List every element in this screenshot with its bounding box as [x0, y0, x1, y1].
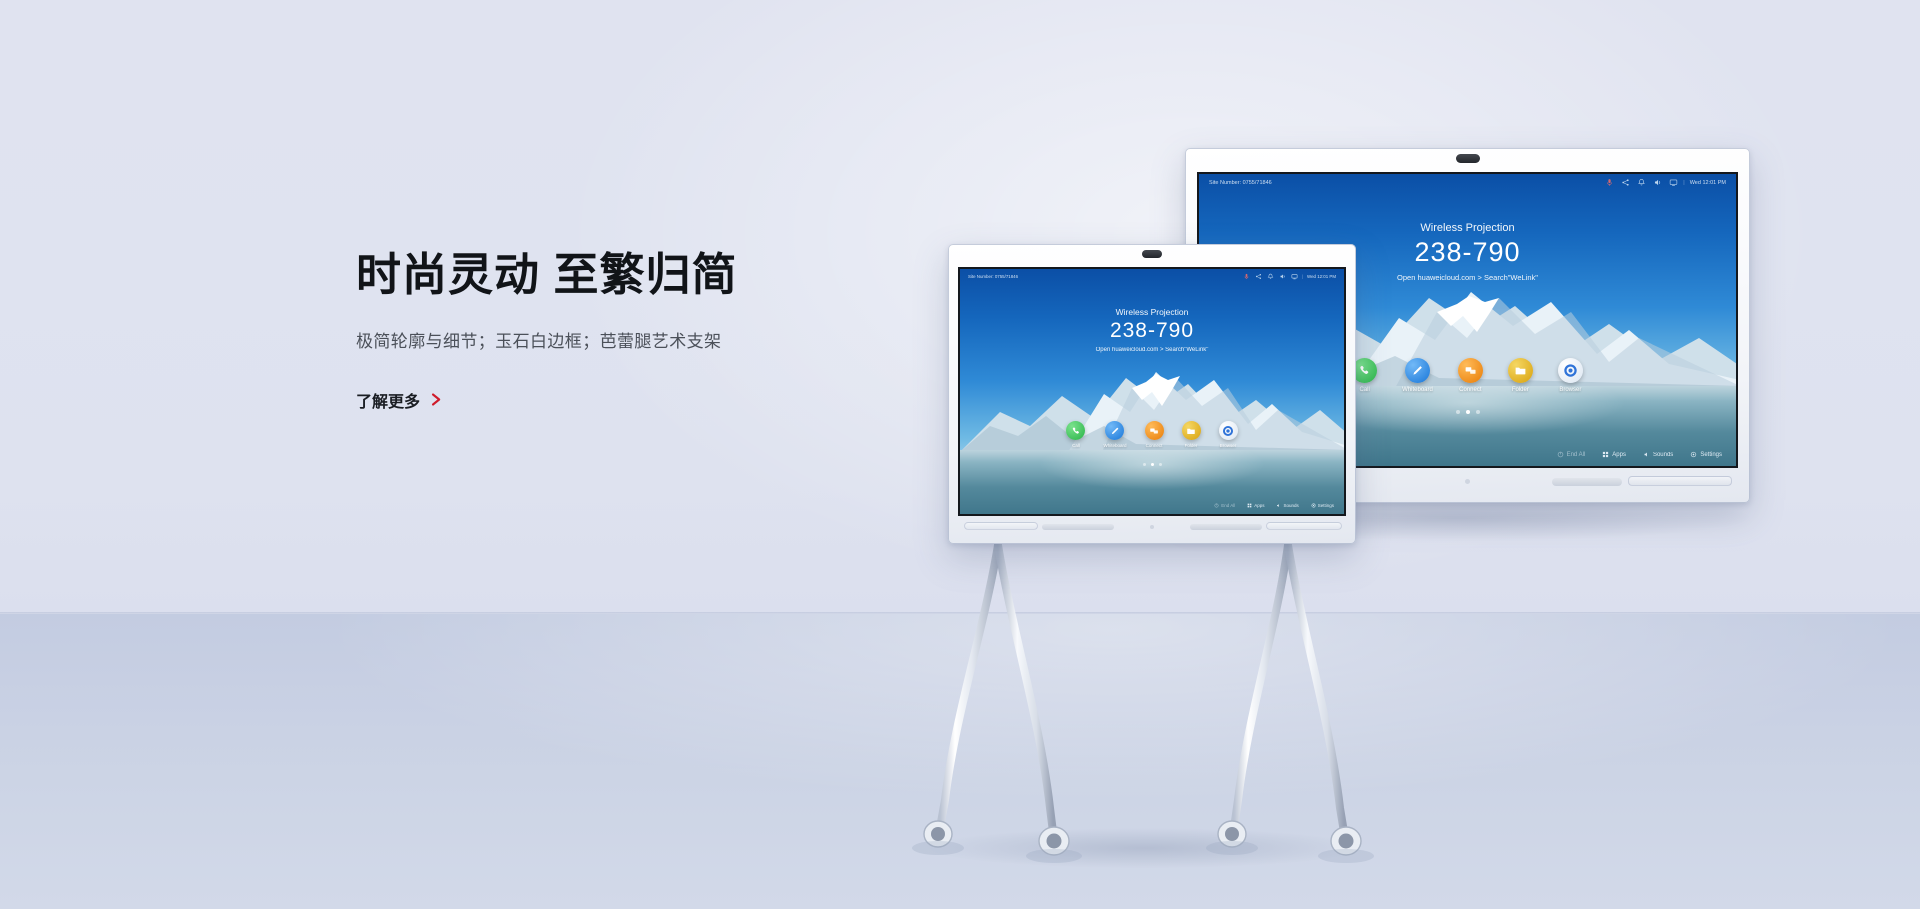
taskbar-settings[interactable]: Settings	[1690, 451, 1722, 458]
gear-icon	[1311, 503, 1316, 508]
taskbar-end-all-label: End All	[1221, 503, 1235, 508]
taskbar-apps-label: Apps	[1254, 503, 1264, 508]
taskbar-end-all-label: End All	[1567, 452, 1586, 458]
front-projection-code: 238-790	[960, 319, 1344, 343]
back-app-connect[interactable]: Connect	[1458, 358, 1483, 393]
back-camera-icon	[1456, 154, 1480, 163]
front-ir-sensor-icon	[1150, 525, 1154, 529]
taskbar-apps[interactable]: Apps	[1602, 451, 1626, 458]
back-status-icons: | Wed 12:01 PM	[1605, 178, 1726, 187]
bell-icon[interactable]	[1637, 178, 1646, 187]
front-app-whiteboard-label: Whiteboard	[1103, 443, 1126, 448]
power-icon	[1214, 503, 1219, 508]
floor-reflection	[0, 614, 1920, 909]
mic-icon[interactable]	[1605, 178, 1614, 187]
network-icon[interactable]	[1669, 178, 1678, 187]
taskbar-apps-label: Apps	[1612, 452, 1626, 458]
pen-icon[interactable]	[1405, 358, 1430, 383]
taskbar-apps[interactable]: Apps	[1247, 503, 1264, 508]
folder-icon[interactable]	[1508, 358, 1533, 383]
taskbar-sounds-label: Sounds	[1283, 503, 1298, 508]
grid-icon	[1247, 503, 1252, 508]
back-app-whiteboard-label: Whiteboard	[1402, 387, 1433, 393]
back-app-folder[interactable]: Folder	[1508, 358, 1533, 393]
back-ir-sensor-icon	[1465, 479, 1470, 484]
front-app-connect-label: Connect	[1146, 443, 1163, 448]
back-speaker-grille-right	[1552, 478, 1622, 486]
folder-icon[interactable]	[1182, 421, 1201, 440]
share-icon[interactable]	[1255, 273, 1262, 280]
back-page-dot[interactable]	[1476, 410, 1480, 414]
front-app-connect[interactable]: Connect	[1145, 421, 1164, 448]
phone-icon[interactable]	[1066, 421, 1085, 440]
front-speaker-grille-left-2	[1042, 524, 1114, 530]
taskbar-settings-label: Settings	[1318, 503, 1334, 508]
taskbar-end-all[interactable]: End All	[1214, 503, 1235, 508]
front-app-dock: Call Whiteboard	[960, 421, 1344, 448]
front-speaker-grille-left	[964, 522, 1038, 530]
back-projection-title: Wireless Projection	[1199, 222, 1736, 234]
sound-icon	[1276, 503, 1281, 508]
front-projection-block: Wireless Projection 238-790 Open huaweic…	[960, 307, 1344, 353]
front-app-folder[interactable]: Folder	[1182, 421, 1201, 448]
taskbar-settings-label: Settings	[1700, 452, 1722, 458]
front-status-icons: | Wed 12:01 PM	[1243, 273, 1336, 280]
taskbar-end-all[interactable]: End All	[1557, 451, 1586, 458]
front-app-call-label: Call	[1072, 443, 1080, 448]
front-projection-hint: Open huaweicloud.com > Search"WeLink"	[960, 347, 1344, 353]
back-app-connect-label: Connect	[1459, 387, 1481, 393]
front-app-call[interactable]: Call	[1066, 421, 1085, 448]
share-icon[interactable]	[1621, 178, 1630, 187]
back-app-browser-label: Browser	[1559, 387, 1581, 393]
grid-icon	[1602, 451, 1609, 458]
volume-icon[interactable]	[1279, 273, 1286, 280]
front-page-dot[interactable]	[1159, 463, 1162, 466]
power-icon	[1557, 451, 1564, 458]
front-status-bar: Site Number: 0755/71846	[960, 269, 1344, 283]
pen-icon[interactable]	[1105, 421, 1124, 440]
front-page-dot[interactable]	[1151, 463, 1154, 466]
front-device-shadow	[930, 828, 1360, 868]
hero-subtitle: 极简轮廓与细节；玉石白边框；芭蕾腿艺术支架	[356, 327, 996, 352]
front-clock: Wed 12:01 PM	[1307, 274, 1336, 279]
front-camera-icon	[1142, 250, 1162, 258]
back-site-number: Site Number: 0755/71846	[1209, 180, 1272, 186]
front-speaker-grille-right-2	[1266, 522, 1342, 530]
hero-copy-block: 时尚灵动 至繁归简 极简轮廓与细节；玉石白边框；芭蕾腿艺术支架 了解更多	[356, 248, 996, 412]
back-app-whiteboard[interactable]: Whiteboard	[1402, 358, 1433, 393]
back-speaker-grille-far-right	[1628, 476, 1732, 486]
front-display-panel: Site Number: 0755/71846	[958, 267, 1346, 516]
front-projection-title: Wireless Projection	[960, 307, 1344, 317]
taskbar-settings[interactable]: Settings	[1311, 503, 1334, 508]
back-status-bar: Site Number: 0755/71846	[1199, 174, 1736, 191]
front-app-folder-label: Folder	[1185, 443, 1198, 448]
back-app-browser[interactable]: Browser	[1558, 358, 1583, 393]
screen-share-icon[interactable]	[1458, 358, 1483, 383]
front-taskbar: End All Apps Sounds	[960, 503, 1344, 508]
mic-icon[interactable]	[1243, 273, 1250, 280]
back-page-dot[interactable]	[1456, 410, 1460, 414]
front-page-dot[interactable]	[1143, 463, 1146, 466]
browser-icon[interactable]	[1558, 358, 1583, 383]
taskbar-sounds[interactable]: Sounds	[1276, 503, 1298, 508]
learn-more-label: 了解更多	[356, 388, 420, 412]
back-app-folder-label: Folder	[1512, 387, 1529, 393]
front-app-browser[interactable]: Browser	[1219, 421, 1238, 448]
chevron-right-icon	[431, 392, 442, 409]
hero-banner: 时尚灵动 至繁归简 极简轮廓与细节；玉石白边框；芭蕾腿艺术支架 了解更多	[0, 0, 1920, 909]
network-icon[interactable]	[1291, 273, 1298, 280]
volume-icon[interactable]	[1653, 178, 1662, 187]
front-page-dots	[960, 463, 1344, 466]
sound-icon	[1643, 451, 1650, 458]
front-app-whiteboard[interactable]: Whiteboard	[1103, 421, 1126, 448]
gear-icon	[1690, 451, 1697, 458]
front-app-browser-label: Browser	[1220, 443, 1237, 448]
back-app-call-label: Call	[1359, 387, 1369, 393]
page-title: 时尚灵动 至繁归简	[356, 248, 996, 301]
bell-icon[interactable]	[1267, 273, 1274, 280]
taskbar-sounds-label: Sounds	[1653, 452, 1673, 458]
screen-share-icon[interactable]	[1145, 421, 1164, 440]
front-speaker-grille-right	[1190, 524, 1262, 530]
browser-icon[interactable]	[1219, 421, 1238, 440]
back-clock: Wed 12:01 PM	[1690, 180, 1726, 186]
device-front: Site Number: 0755/71846	[948, 244, 1356, 544]
back-page-dot[interactable]	[1466, 410, 1470, 414]
learn-more-link[interactable]: 了解更多	[356, 388, 442, 412]
front-site-number: Site Number: 0755/71846	[968, 274, 1018, 279]
taskbar-sounds[interactable]: Sounds	[1643, 451, 1673, 458]
